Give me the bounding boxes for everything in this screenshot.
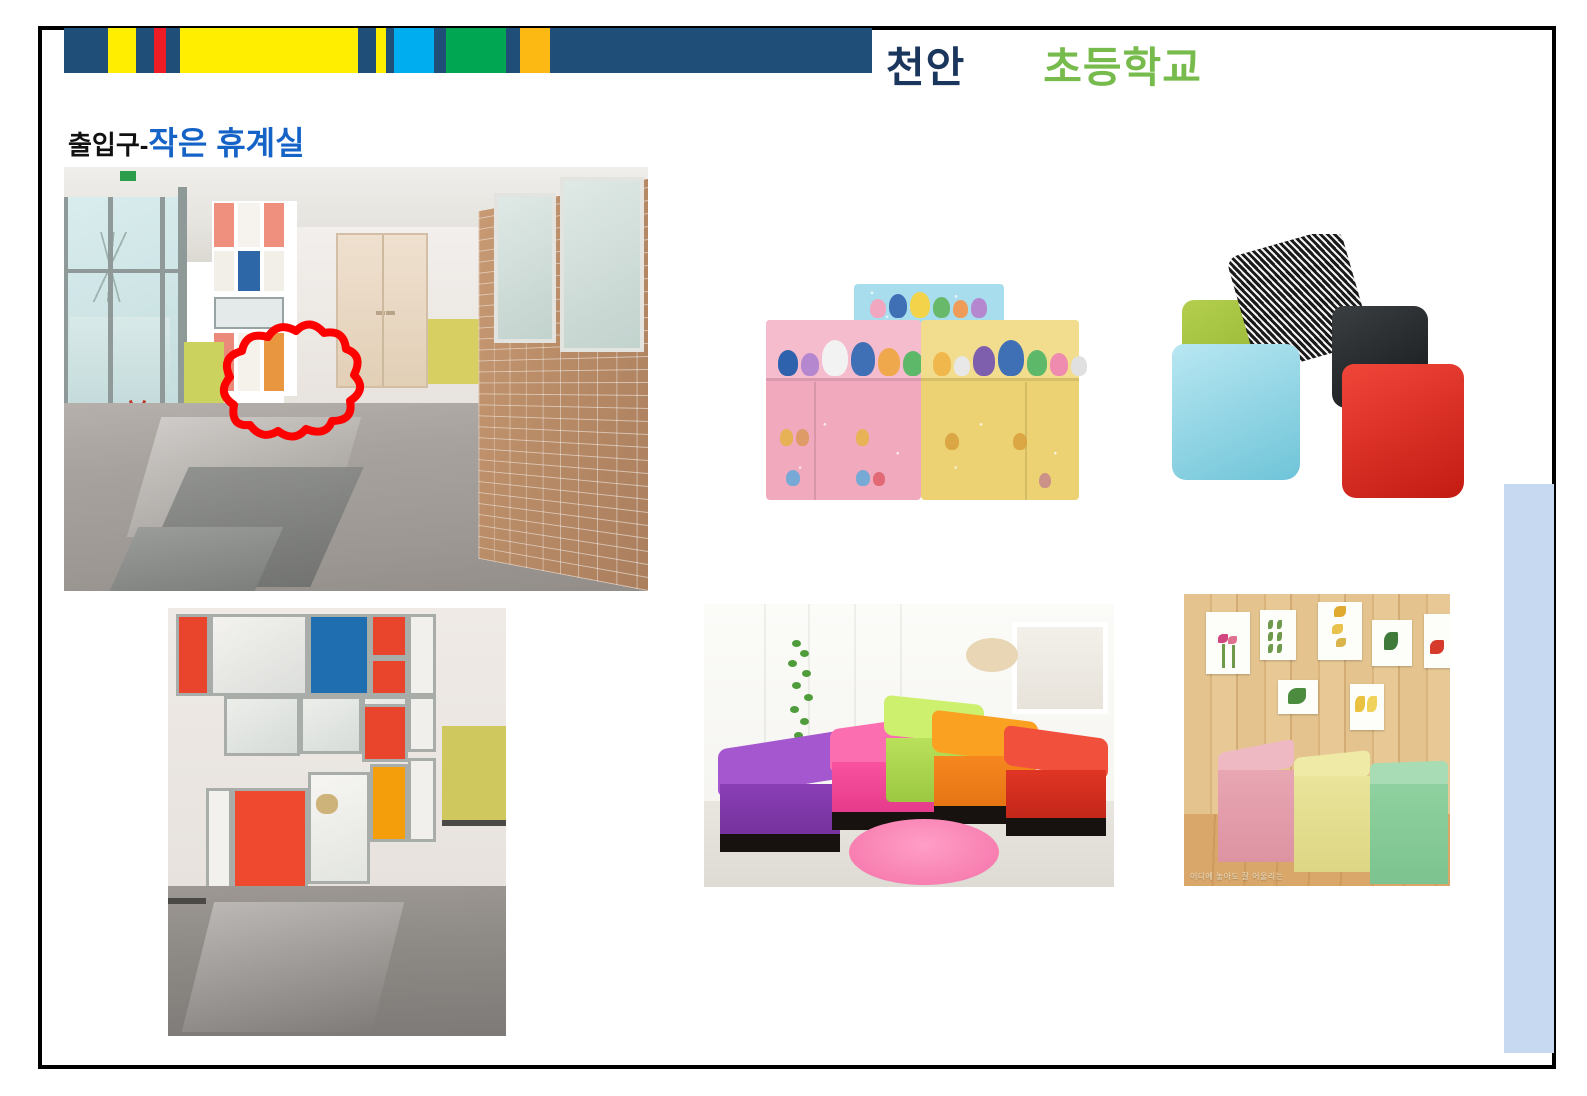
colorbar-segment-orange-1 [520,28,550,73]
header-colorbar [64,28,872,73]
colorbar-segment-green-1 [446,28,506,73]
wall-base-left [168,898,206,904]
slide-canvas: 천안초등학교 출입구-작은 휴계실 [0,0,1587,1096]
pastel-ottoman-yellow [1294,754,1370,872]
pressed-flower-card-4 [1372,620,1412,666]
colorbar-segment-yellow-2 [180,28,358,73]
pastel-ottoman-bench-photo: 어디에 놓아도 잘 어울리는 [1184,594,1450,886]
page-title: 천안초등학교 [886,34,1202,95]
colorbar-segment-navy-9 [506,28,520,73]
pororo-lid-blue [854,284,1004,324]
wall-shelf-frame [1012,622,1108,714]
colorbar-segment-yellow-1 [108,28,136,73]
section-subtitle: 출입구-작은 휴계실 [68,118,305,164]
pressed-flower-card-5 [1424,614,1450,668]
window-pane-glass-4 [308,772,370,884]
pastel-ottoman-pink [1218,746,1294,862]
window-pane-red-1 [176,614,210,696]
window-pane-red-6 [232,788,308,898]
colorbar-segment-cyan-1 [394,28,434,73]
right-accent-bar [1504,484,1554,1053]
plush-toy [966,638,1018,672]
floor-reflection [182,902,404,1032]
subtitle-emphasis: 작은 휴계실 [148,125,304,161]
window-pane-glass-2 [408,614,436,696]
red-cloud-annotation [204,319,389,469]
title-primary: 천안 [886,44,965,91]
window-pane-blue [308,614,370,696]
colorbar-segment-yellow-3 [376,28,386,73]
ottoman-purple [718,740,842,852]
tree-silhouette [78,232,148,302]
window-pane-open-2 [300,696,362,754]
colorbar-segment-navy-8 [434,28,446,73]
entrance-grate-mat-2 [110,527,283,591]
pressed-flower-card-1 [1206,612,1250,674]
pressed-flower-card-2 [1260,610,1296,660]
pressed-flower-card-6 [1278,680,1318,714]
cube-bean-bag-ottoman-photo [1156,234,1476,517]
title-secondary: 초등학교 [1043,44,1202,91]
window-pane-glass-5 [408,758,436,842]
window-pane-red-5 [206,788,232,900]
floor-baseboard [442,820,506,826]
ottoman-red [1004,732,1108,836]
colorbar-segment-navy-2 [136,28,146,73]
colorbar-segment-red-1 [154,28,166,73]
window-pane-red-2 [370,614,408,658]
colorbar-segment-navy-10 [550,28,568,73]
colorbar-segment-navy-11 [568,28,872,73]
exit-sign-icon [120,171,136,181]
window-pane-red-4 [362,704,408,762]
colored-window-wall-photo [168,608,506,1036]
colorbar-segment-navy-6 [358,28,376,73]
corridor-window-1 [560,177,644,352]
pressed-flower-card-3 [1318,602,1362,660]
school-entrance-hallway-photo [64,167,648,591]
corridor-window-2 [494,193,556,343]
window-pane-glass-3 [408,696,436,752]
round-pink-rug [849,819,999,885]
yellow-dado-wall [442,726,506,822]
colorbar-segment-navy-3 [146,28,154,73]
bear-window-decal-icon [316,794,338,814]
pororo-cube-yellow [921,320,1079,500]
colorbar-segment-navy-7 [386,28,394,73]
pororo-storage-ottoman-photo [744,262,1092,512]
pressed-flower-card-7 [1350,684,1384,730]
yellow-dado-right [419,319,479,384]
colorbar-segment-navy-4 [166,28,174,73]
subtitle-prefix: 출입구- [68,130,148,160]
pororo-cube-pink [766,320,921,500]
cube-ottoman-red [1342,364,1464,498]
cube-ottoman-lightblue [1172,344,1300,480]
colorful-leather-ottoman-photo [704,604,1114,887]
window-pane-glass-1 [210,614,308,696]
photo-caption: 어디에 놓아도 잘 어울리는 [1190,871,1283,882]
window-pane-orange [370,764,408,842]
window-pane-red-3 [370,658,408,696]
pastel-ottoman-green [1370,762,1448,884]
colorbar-segment-navy-1 [64,28,108,73]
window-pane-open-1 [224,696,300,756]
